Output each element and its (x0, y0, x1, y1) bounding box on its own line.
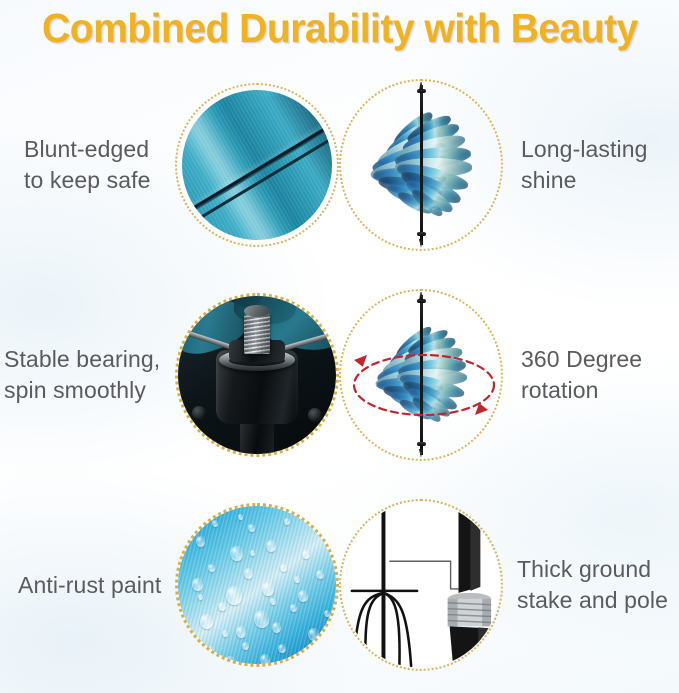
product-feature-infographic: Combined Durability with Beauty Blunt-ed… (0, 0, 679, 693)
image-clip-circle (342, 502, 500, 668)
water-droplet (284, 518, 290, 525)
water-droplet (200, 614, 213, 629)
water-droplet (324, 610, 330, 617)
water-droplet (290, 604, 297, 612)
feature-caption-ground-stake: Thick ground stake and pole (503, 554, 679, 616)
water-droplet (298, 590, 308, 602)
feature-image-360-rotation (339, 289, 503, 461)
water-droplet (224, 656, 236, 664)
water-droplet (270, 598, 276, 605)
image-clip-circle (342, 292, 500, 458)
feature-anti-rust-paint: Anti-rust paint (0, 482, 339, 688)
water-droplet (222, 630, 228, 637)
image-clip-circle (178, 506, 336, 664)
water-droplet (198, 594, 203, 600)
feature-image-anti-rust-paint (175, 503, 339, 667)
feature-stable-bearing: Stable bearing, spin smoothly (0, 272, 339, 478)
feature-360-degree-rotation: 360 Degree rotation (339, 272, 679, 478)
water-droplet (254, 610, 269, 628)
threaded-bolt (244, 312, 270, 354)
image-clip-circle (182, 90, 332, 240)
water-droplet (318, 526, 323, 532)
feature-caption-long-lasting-shine: Long-lasting shine (503, 134, 679, 196)
rotation-arrows-icon (348, 344, 500, 426)
wind-spinner-sphere-photo (342, 82, 500, 248)
feature-row-3: Anti-rust paint (0, 482, 679, 688)
water-droplet (196, 536, 205, 547)
water-droplet (242, 642, 249, 650)
ground-stake-and-pole-diagram (342, 502, 500, 668)
feature-caption-blunt-edged: Blunt-edged to keep safe (0, 134, 175, 196)
water-droplet (296, 658, 309, 664)
water-droplet (248, 524, 255, 532)
water-droplet (238, 514, 243, 520)
brushed-teal-blade-edge-photo (182, 90, 332, 240)
feature-image-blunt-edged (175, 83, 339, 247)
water-droplet (244, 568, 253, 579)
finial-bottom-icon (416, 228, 427, 243)
feature-caption-anti-rust-paint: Anti-rust paint (0, 570, 175, 601)
water-droplet (280, 564, 287, 572)
water-droplet (294, 576, 300, 583)
title-banner: Combined Durability with Beauty (0, 0, 679, 56)
image-clip-circle (342, 82, 500, 248)
feature-image-stable-bearing (175, 293, 339, 457)
water-droplet (308, 628, 319, 641)
water-droplet (266, 540, 276, 552)
water-droplet (314, 648, 321, 656)
bearing-bolt-closeup-photo (178, 296, 336, 454)
water-droplet (226, 586, 242, 605)
water-droplet (212, 520, 218, 527)
water-droplet (302, 550, 310, 559)
water-droplet (272, 622, 281, 633)
water-droplet (218, 602, 226, 611)
water-droplet (206, 646, 215, 657)
feature-blunt-edged: Blunt-edged to keep safe (0, 62, 339, 268)
water-droplet (278, 644, 286, 653)
water-droplet (192, 578, 203, 591)
water-droplet (260, 654, 270, 664)
image-clip-circle (178, 296, 336, 454)
water-droplet (316, 570, 324, 579)
page-title: Combined Durability with Beauty (42, 6, 638, 50)
feature-thick-ground-stake: Thick ground stake and pole (339, 482, 679, 688)
water-droplet (208, 564, 215, 572)
feature-row-2: Stable bearing, spin smoothly (0, 272, 679, 478)
water-droplet (188, 634, 194, 641)
water-droplet (236, 626, 246, 638)
water-droplets-on-paint-photo (178, 506, 336, 664)
feature-long-lasting-shine: Long-lasting shine (339, 62, 679, 268)
water-droplet (330, 544, 336, 552)
water-droplet (262, 582, 274, 596)
water-droplet (250, 550, 255, 556)
feature-image-ground-stake (339, 499, 503, 671)
feature-caption-stable-bearing: Stable bearing, spin smoothly (0, 344, 175, 406)
feature-caption-360-rotation: 360 Degree rotation (503, 344, 679, 406)
feature-image-long-lasting-shine (339, 79, 503, 251)
water-droplet (230, 546, 243, 561)
feature-row-1: Blunt-edged to keep safe (0, 62, 679, 268)
finial-bottom-icon (416, 438, 427, 453)
finial-top-icon (416, 85, 427, 100)
finial-top-icon (416, 295, 427, 310)
